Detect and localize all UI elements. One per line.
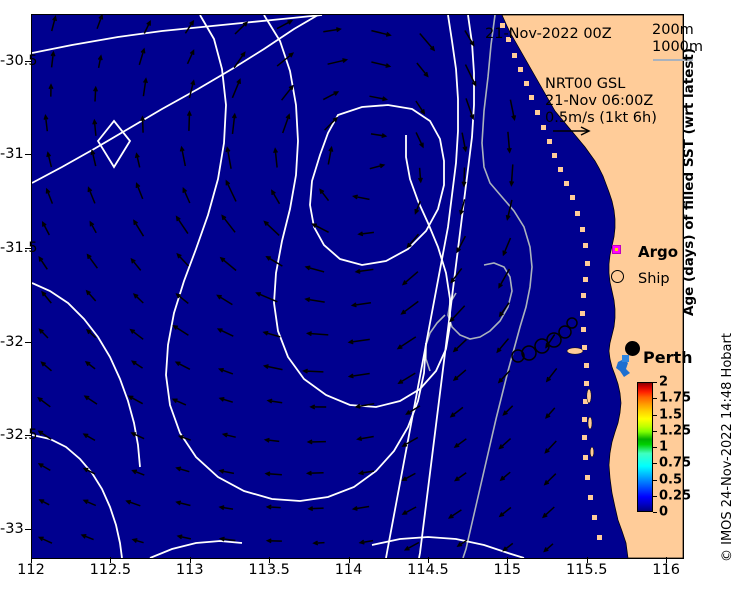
current-vector [42, 362, 52, 370]
current-vector [497, 339, 508, 352]
ship-marker-icon [611, 270, 624, 283]
y-tick-label: -31 [0, 146, 22, 162]
colorbar-tickmark [653, 431, 657, 432]
current-vector [177, 217, 188, 234]
current-vector [547, 368, 557, 381]
ship-markers-map [512, 318, 577, 362]
colorbar-tickmark [653, 382, 657, 383]
current-vector [134, 221, 144, 237]
colorbar-tickmark [653, 480, 657, 481]
y-tickmark [25, 529, 31, 530]
current-vector [403, 438, 418, 447]
ship-legend-label: Ship [638, 271, 670, 287]
current-vector [420, 34, 434, 51]
argo-legend-label: Argo [638, 243, 678, 261]
x-tick-label: 112.5 [90, 562, 132, 578]
colorbar-tick-label: 1.5 [659, 407, 682, 422]
current-vector [455, 439, 466, 447]
colorbar-tick-label: 0.75 [659, 456, 691, 471]
colorbar-tick-label: 2 [659, 375, 668, 390]
colorbar-tick-label: 1.25 [659, 423, 691, 438]
colorbar-tick-label: 0 [659, 505, 668, 520]
current-vector [272, 191, 280, 204]
current-vector [131, 330, 143, 340]
current-vector [398, 337, 416, 349]
colorbar-tickmark [653, 447, 657, 448]
current-vector [222, 216, 235, 233]
colorbar-title: Age (days) of filled SST (wrt latest) [681, 48, 697, 316]
x-tick-label: 116 [652, 562, 680, 578]
current-vector [500, 439, 511, 449]
current-vector [399, 373, 415, 383]
current-vector [129, 396, 143, 403]
colorbar-gradient [637, 382, 653, 512]
figure-root: 21-Nov-2022 00Z 200m 1000m NRT00 GSL 21-… [0, 0, 740, 592]
x-tick-label: 113 [176, 562, 204, 578]
current-vector [500, 508, 511, 517]
current-vector [178, 254, 189, 266]
current-vector [282, 86, 293, 100]
current-vector [454, 370, 466, 380]
colorbar-tick-label: 0.5 [659, 472, 682, 487]
current-source-label: NRT00 GSL [545, 76, 625, 92]
x-tick-label: 114 [335, 562, 363, 578]
current-vector [504, 238, 511, 255]
current-vector [189, 112, 190, 131]
current-vector [450, 306, 464, 321]
date-stamp: 21-Nov-2022 00Z [485, 26, 612, 42]
current-vector [465, 31, 474, 46]
y-tickmark [25, 154, 31, 155]
depth-legend-200m: 200m [652, 22, 694, 38]
current-vector [449, 510, 461, 518]
current-vector [87, 291, 96, 301]
colorbar-tickmark [653, 496, 657, 497]
colorbar-tick-label: 1.75 [659, 391, 691, 406]
x-tick-label: 113.5 [248, 562, 290, 578]
current-vector [499, 371, 510, 383]
y-tick-label: -32.5 [0, 427, 22, 443]
legend-argo: Argo [612, 245, 692, 259]
colorbar-tick-label: 1 [659, 440, 668, 455]
colorbar-tickmark [653, 512, 657, 513]
current-vector [232, 80, 240, 98]
current-vector [85, 396, 97, 404]
colorbar-tickmark [653, 463, 657, 464]
colorbar-tickmark [653, 415, 657, 416]
current-vector [134, 294, 143, 303]
current-vector [403, 272, 418, 285]
legend-ship: Ship [612, 272, 692, 286]
y-tick-label: -30.5 [0, 53, 22, 69]
current-vector [39, 257, 47, 269]
current-vector [451, 268, 461, 282]
current-vector [40, 330, 48, 339]
perth-city-label: Perth [643, 348, 693, 367]
current-vector [546, 408, 555, 418]
x-tick-label: 112 [17, 562, 45, 578]
ssh-contours [32, 15, 524, 558]
argo-marker-icon [612, 245, 621, 254]
current-vector [499, 269, 509, 287]
current-vector [221, 258, 236, 271]
x-tick-label: 115 [493, 562, 521, 578]
y-tick-label: -33 [0, 521, 22, 537]
current-vector [218, 296, 233, 305]
current-vector [543, 507, 554, 517]
current-vector [504, 406, 513, 415]
current-vector [466, 98, 473, 118]
islands [567, 348, 594, 457]
current-vector [454, 339, 467, 351]
current-vector [546, 441, 557, 453]
perth-city-marker [625, 341, 640, 356]
current-vector [402, 301, 419, 313]
colorbar-tick-label: 0.25 [659, 488, 691, 503]
current-vector [320, 190, 328, 201]
current-vector [42, 292, 51, 303]
current-vectors [39, 15, 557, 551]
y-tick-label: -32 [0, 334, 22, 350]
x-tick-label: 115.5 [566, 562, 608, 578]
y-tickmark [25, 342, 31, 343]
current-vector [451, 407, 463, 416]
current-vector [417, 63, 428, 76]
current-vector [226, 181, 236, 201]
current-vector [267, 257, 283, 266]
current-vector [464, 168, 465, 186]
colorbar-tickmark [653, 398, 657, 399]
current-vector [39, 398, 51, 407]
current-scale-arrow [552, 124, 598, 138]
current-vector [545, 474, 556, 485]
y-tick-label: -31.5 [0, 240, 22, 256]
copyright-text: © IMOS 24-Nov-2022 14:48 Hobart [720, 333, 735, 562]
current-vector [88, 255, 98, 268]
x-tick-label: 114.5 [407, 562, 449, 578]
current-vector [234, 53, 245, 68]
current-vector [132, 259, 141, 270]
current-vector [277, 21, 292, 29]
depth-contours [426, 15, 532, 558]
current-vector [323, 92, 337, 100]
current-vector [265, 222, 280, 236]
current-vector [174, 326, 189, 335]
current-time-label: 21-Nov 06:00Z [545, 93, 653, 109]
